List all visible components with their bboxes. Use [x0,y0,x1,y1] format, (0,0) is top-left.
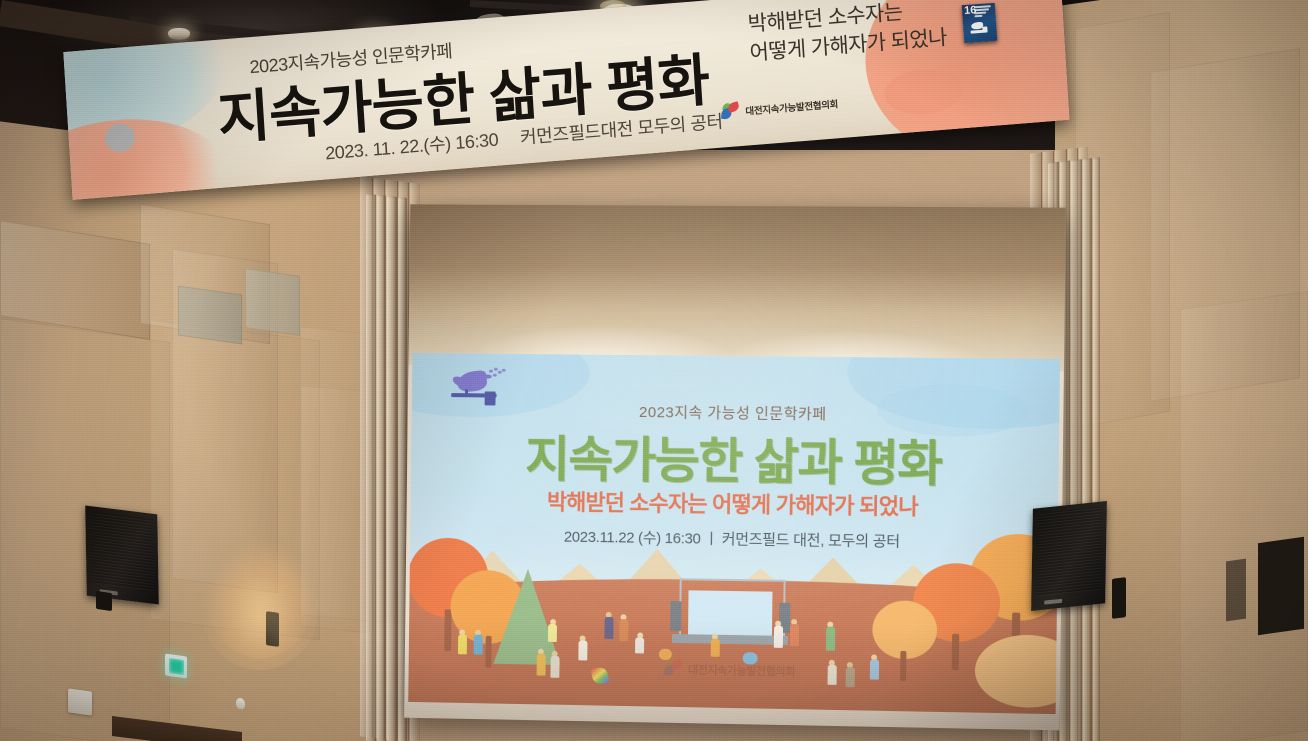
banner-decor-peach [63,111,232,199]
wall-mounted-box [68,688,92,715]
person-figure [868,654,880,680]
spotlight [168,28,190,40]
wall-panel [245,268,300,336]
presentation-slide: 2023지속 가능성 인문학카페 지속가능한 삶과 평화 박해받던 소수자는 어… [408,353,1060,714]
wall-dark-panel [1258,537,1304,635]
person-figure [634,632,645,654]
organizer-logo-mark [664,660,683,677]
person-figure [844,662,856,688]
sdg-16-badge: 16 [962,3,998,43]
person-figure [535,649,547,677]
person-figure [472,630,484,656]
person-figure [576,635,588,661]
wall-panel [1180,291,1308,741]
sdg-badge-text-lines [974,5,992,18]
person-figure [602,612,614,640]
tree [966,634,1058,714]
right-wall-speaker [1031,501,1107,611]
person-figure [547,619,558,643]
slide-illustration: 대전지속가능발전협의회 [408,494,1058,714]
person-figure [788,619,800,647]
screen-unused-area [408,204,1066,371]
person-figure [548,651,560,679]
person-figure [825,660,837,686]
banner-organizer-logo: 대전지속가능발전협의회 [721,94,839,120]
person-figure [824,622,836,652]
dove-gavel-icon [970,19,990,34]
wall-dark-panel [1226,559,1246,622]
person-figure [772,621,784,649]
person-figure [709,634,721,658]
speaker-mount-bracket [1112,577,1126,619]
slide-organizer-logo: 대전지속가능발전협의회 [664,660,795,679]
organizer-logo-mark [721,102,741,120]
wall-panel [150,320,320,641]
wall-panel [178,286,242,345]
banner-logo-text: 대전지속가능발전협의회 [745,96,838,117]
slide-logo-text: 대전지속가능발전협의회 [688,661,795,679]
person-figure [456,629,468,655]
person-figure [617,614,629,642]
wall-sensor [236,697,245,709]
venue-photo-scene: 2023지속 가능성 인문학카페 지속가능한 삶과 평화 박해받던 소수자는 어… [0,0,1308,741]
emergency-exit-sign [165,653,187,678]
projection-screen: 2023지속 가능성 인문학카페 지속가능한 삶과 평화 박해받던 소수자는 어… [404,204,1066,730]
speaker-mount-bracket [96,591,112,611]
left-wall-speaker [85,505,159,604]
wall-sconce [266,611,279,647]
